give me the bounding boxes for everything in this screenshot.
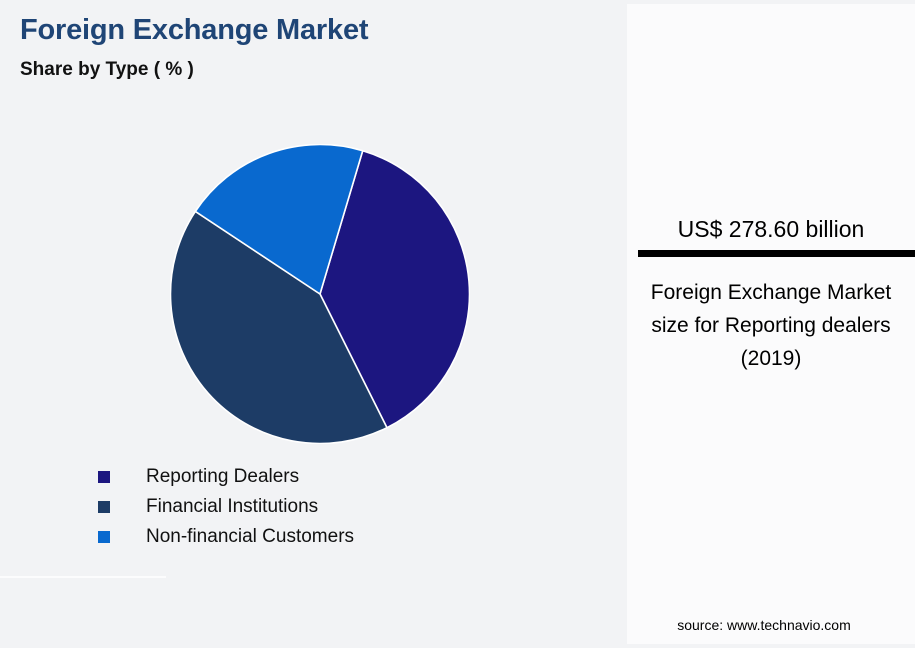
legend-swatch-financial-institutions <box>98 501 110 513</box>
pie-slice-group <box>170 144 469 443</box>
callout-divider <box>638 250 915 257</box>
legend-item-reporting-dealers[interactable]: Reporting Dealers <box>98 462 558 492</box>
callout-value: US$ 278.60 billion <box>627 216 915 243</box>
callout-panel: US$ 278.60 billion Foreign Exchange Mark… <box>627 4 915 644</box>
legend-item-non-financial-customers[interactable]: Non-financial Customers <box>98 522 558 552</box>
legend-swatch-non-financial-customers <box>98 531 110 543</box>
legend-swatch-reporting-dealers <box>98 471 110 483</box>
pie-chart-svg <box>170 144 470 444</box>
chart-subtitle: Share by Type ( % ) <box>20 59 194 81</box>
source-attribution: source: www.technavio.com <box>627 617 915 633</box>
legend-label-financial-institutions: Financial Institutions <box>146 496 318 518</box>
bottom-divider <box>0 576 166 578</box>
legend-label-non-financial-customers: Non-financial Customers <box>146 526 354 548</box>
callout-caption: Foreign Exchange Market size for Reporti… <box>641 276 901 375</box>
chart-legend: Reporting Dealers Financial Institutions… <box>98 462 558 552</box>
chart-panel: Foreign Exchange Market Share by Type ( … <box>0 0 627 648</box>
infographic-root: Foreign Exchange Market Share by Type ( … <box>0 0 915 648</box>
legend-item-financial-institutions[interactable]: Financial Institutions <box>98 492 558 522</box>
pie-chart <box>170 144 470 444</box>
page-title: Foreign Exchange Market <box>20 14 368 47</box>
legend-label-reporting-dealers: Reporting Dealers <box>146 466 299 488</box>
